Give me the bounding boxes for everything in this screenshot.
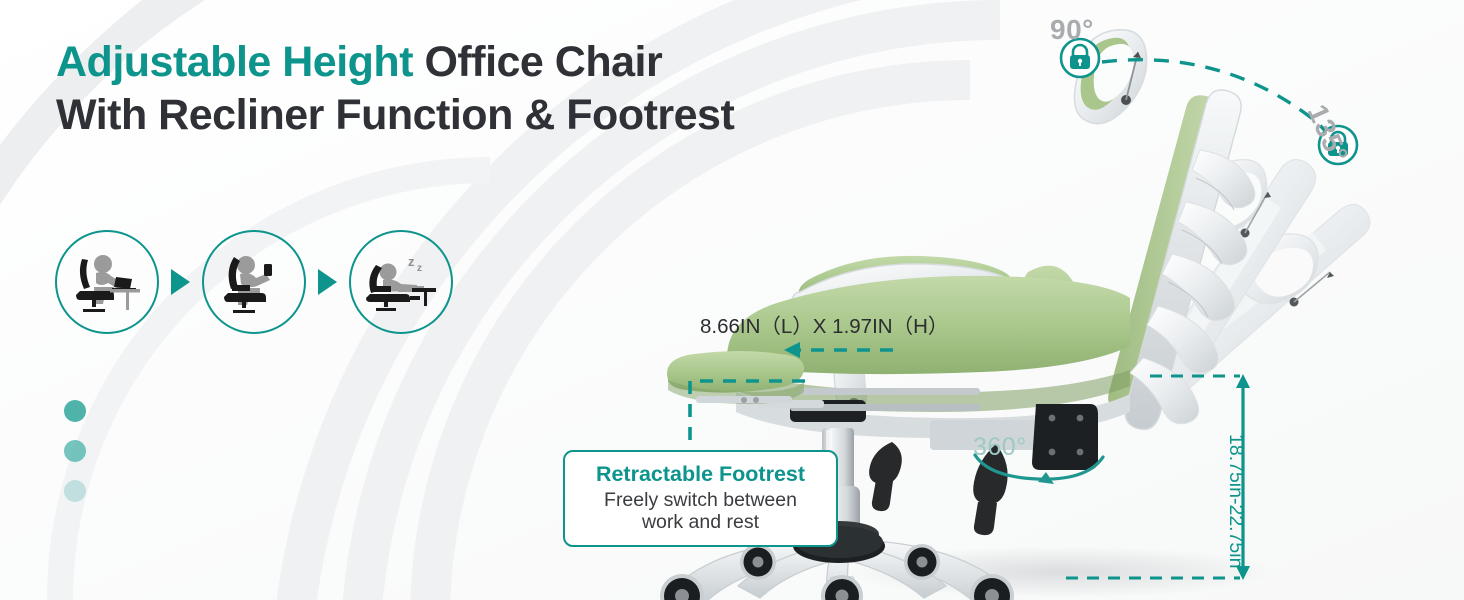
- callout-leader-line: [690, 381, 805, 450]
- retractable-footrest-callout: Retractable Footrest Freely switch betwe…: [563, 450, 838, 547]
- callout-title: Retractable Footrest: [575, 462, 826, 487]
- height-range-label: 18.75in-22.75in: [1224, 434, 1247, 568]
- swivel-label-360: 360°: [973, 433, 1027, 462]
- footrest-length-arrow: [784, 342, 893, 358]
- recline-arc-icon: [1102, 60, 1342, 158]
- footrest-dimension-label: 8.66IN（L）X 1.97IN（H）: [700, 309, 948, 339]
- callout-body-line-2: work and rest: [575, 512, 826, 534]
- angle-label-90: 90°: [1050, 14, 1094, 46]
- infographic-canvas: Adjustable Height Office Chair With Recl…: [0, 0, 1464, 600]
- callout-body-line-1: Freely switch between: [575, 490, 826, 512]
